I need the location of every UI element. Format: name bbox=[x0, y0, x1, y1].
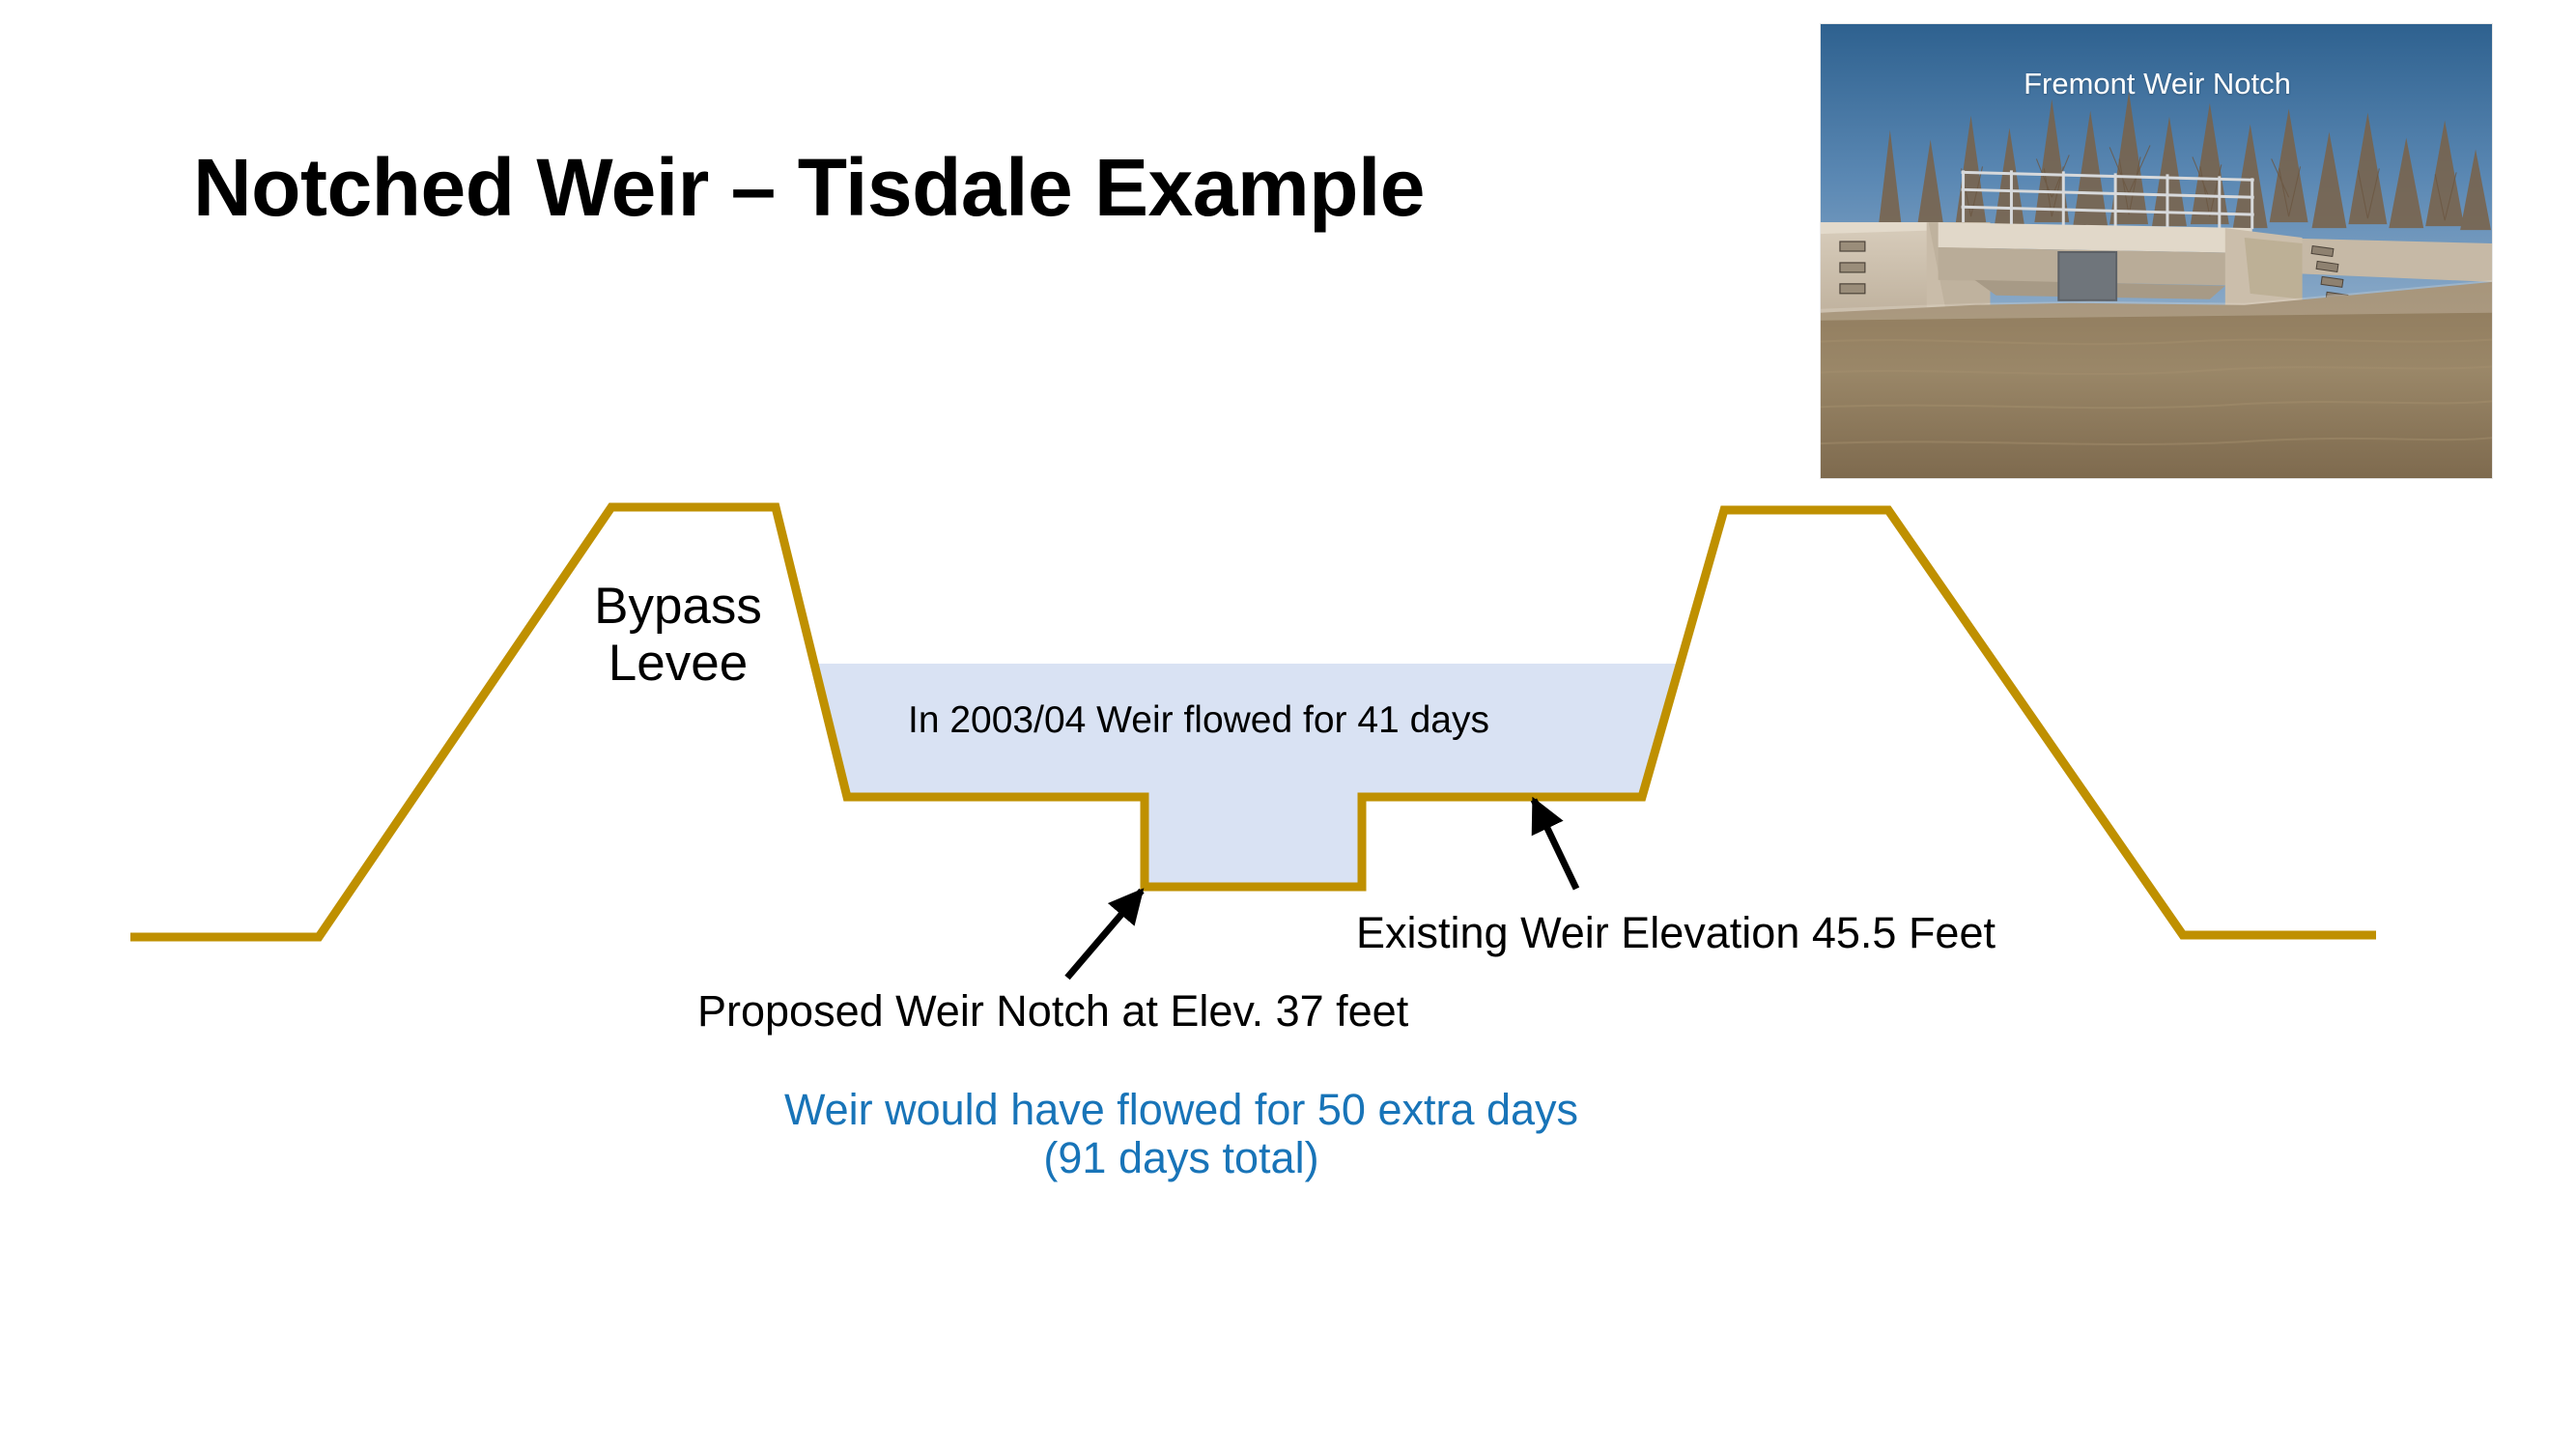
extra-days-callout: Weir would have flowed for 50 extra days… bbox=[689, 1086, 1674, 1183]
existing-weir-elevation-label: Existing Weir Elevation 45.5 Feet bbox=[1356, 909, 1996, 957]
existing-weir-arrow bbox=[1534, 800, 1576, 889]
extra-days-line-2: (91 days total) bbox=[689, 1134, 1674, 1182]
flow-days-label: In 2003/04 Weir flowed for 41 days bbox=[908, 699, 1489, 742]
proposed-notch-arrow bbox=[1067, 891, 1142, 978]
slide-canvas: Notched Weir – Tisdale Example bbox=[0, 0, 2576, 1449]
extra-days-line-1: Weir would have flowed for 50 extra days bbox=[784, 1085, 1578, 1134]
bypass-levee-label: Bypass Levee bbox=[577, 578, 779, 693]
proposed-weir-notch-label: Proposed Weir Notch at Elev. 37 feet bbox=[697, 987, 1408, 1036]
